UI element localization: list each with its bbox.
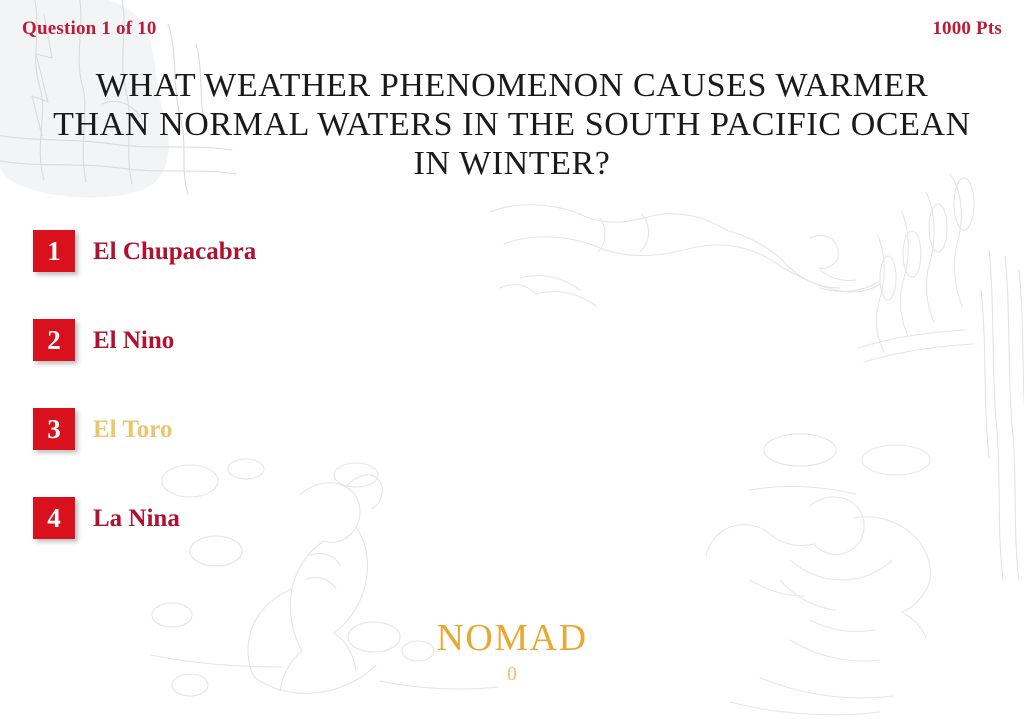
answer-number-badge: 3 — [33, 408, 75, 450]
answer-number-badge: 2 — [33, 319, 75, 361]
answer-label: El Chupacabra — [93, 239, 256, 264]
answer-number-badge: 4 — [33, 497, 75, 539]
answer-label: El Toro — [93, 417, 172, 442]
answer-option-4[interactable]: 4 La Nina — [33, 496, 653, 540]
background-sketch-reeds — [840, 170, 1024, 370]
answers-list: 1 El Chupacabra 2 El Nino 3 El Toro 4 La… — [33, 229, 653, 585]
quiz-slide: Question 1 of 10 1000 Pts WHAT WEATHER P… — [0, 0, 1024, 725]
brand-name: NOMAD — [0, 616, 1024, 660]
answer-option-2[interactable]: 2 El Nino — [33, 318, 653, 362]
background-sketch-right-edge — [975, 250, 1024, 580]
points-value: 1000 Pts — [932, 18, 1002, 40]
footer-brand: NOMAD 0 — [0, 616, 1024, 686]
player-score: 0 — [0, 662, 1024, 686]
answer-option-3[interactable]: 3 El Toro — [33, 407, 653, 451]
question-counter: Question 1 of 10 — [22, 18, 157, 40]
answer-number-badge: 1 — [33, 230, 75, 272]
header-bar: Question 1 of 10 1000 Pts — [0, 14, 1024, 44]
question-text: WHAT WEATHER PHENOMENON CAUSES WARMER TH… — [50, 66, 974, 183]
answer-label: El Nino — [93, 328, 174, 353]
answer-option-1[interactable]: 1 El Chupacabra — [33, 229, 653, 273]
answer-label: La Nina — [93, 506, 180, 531]
